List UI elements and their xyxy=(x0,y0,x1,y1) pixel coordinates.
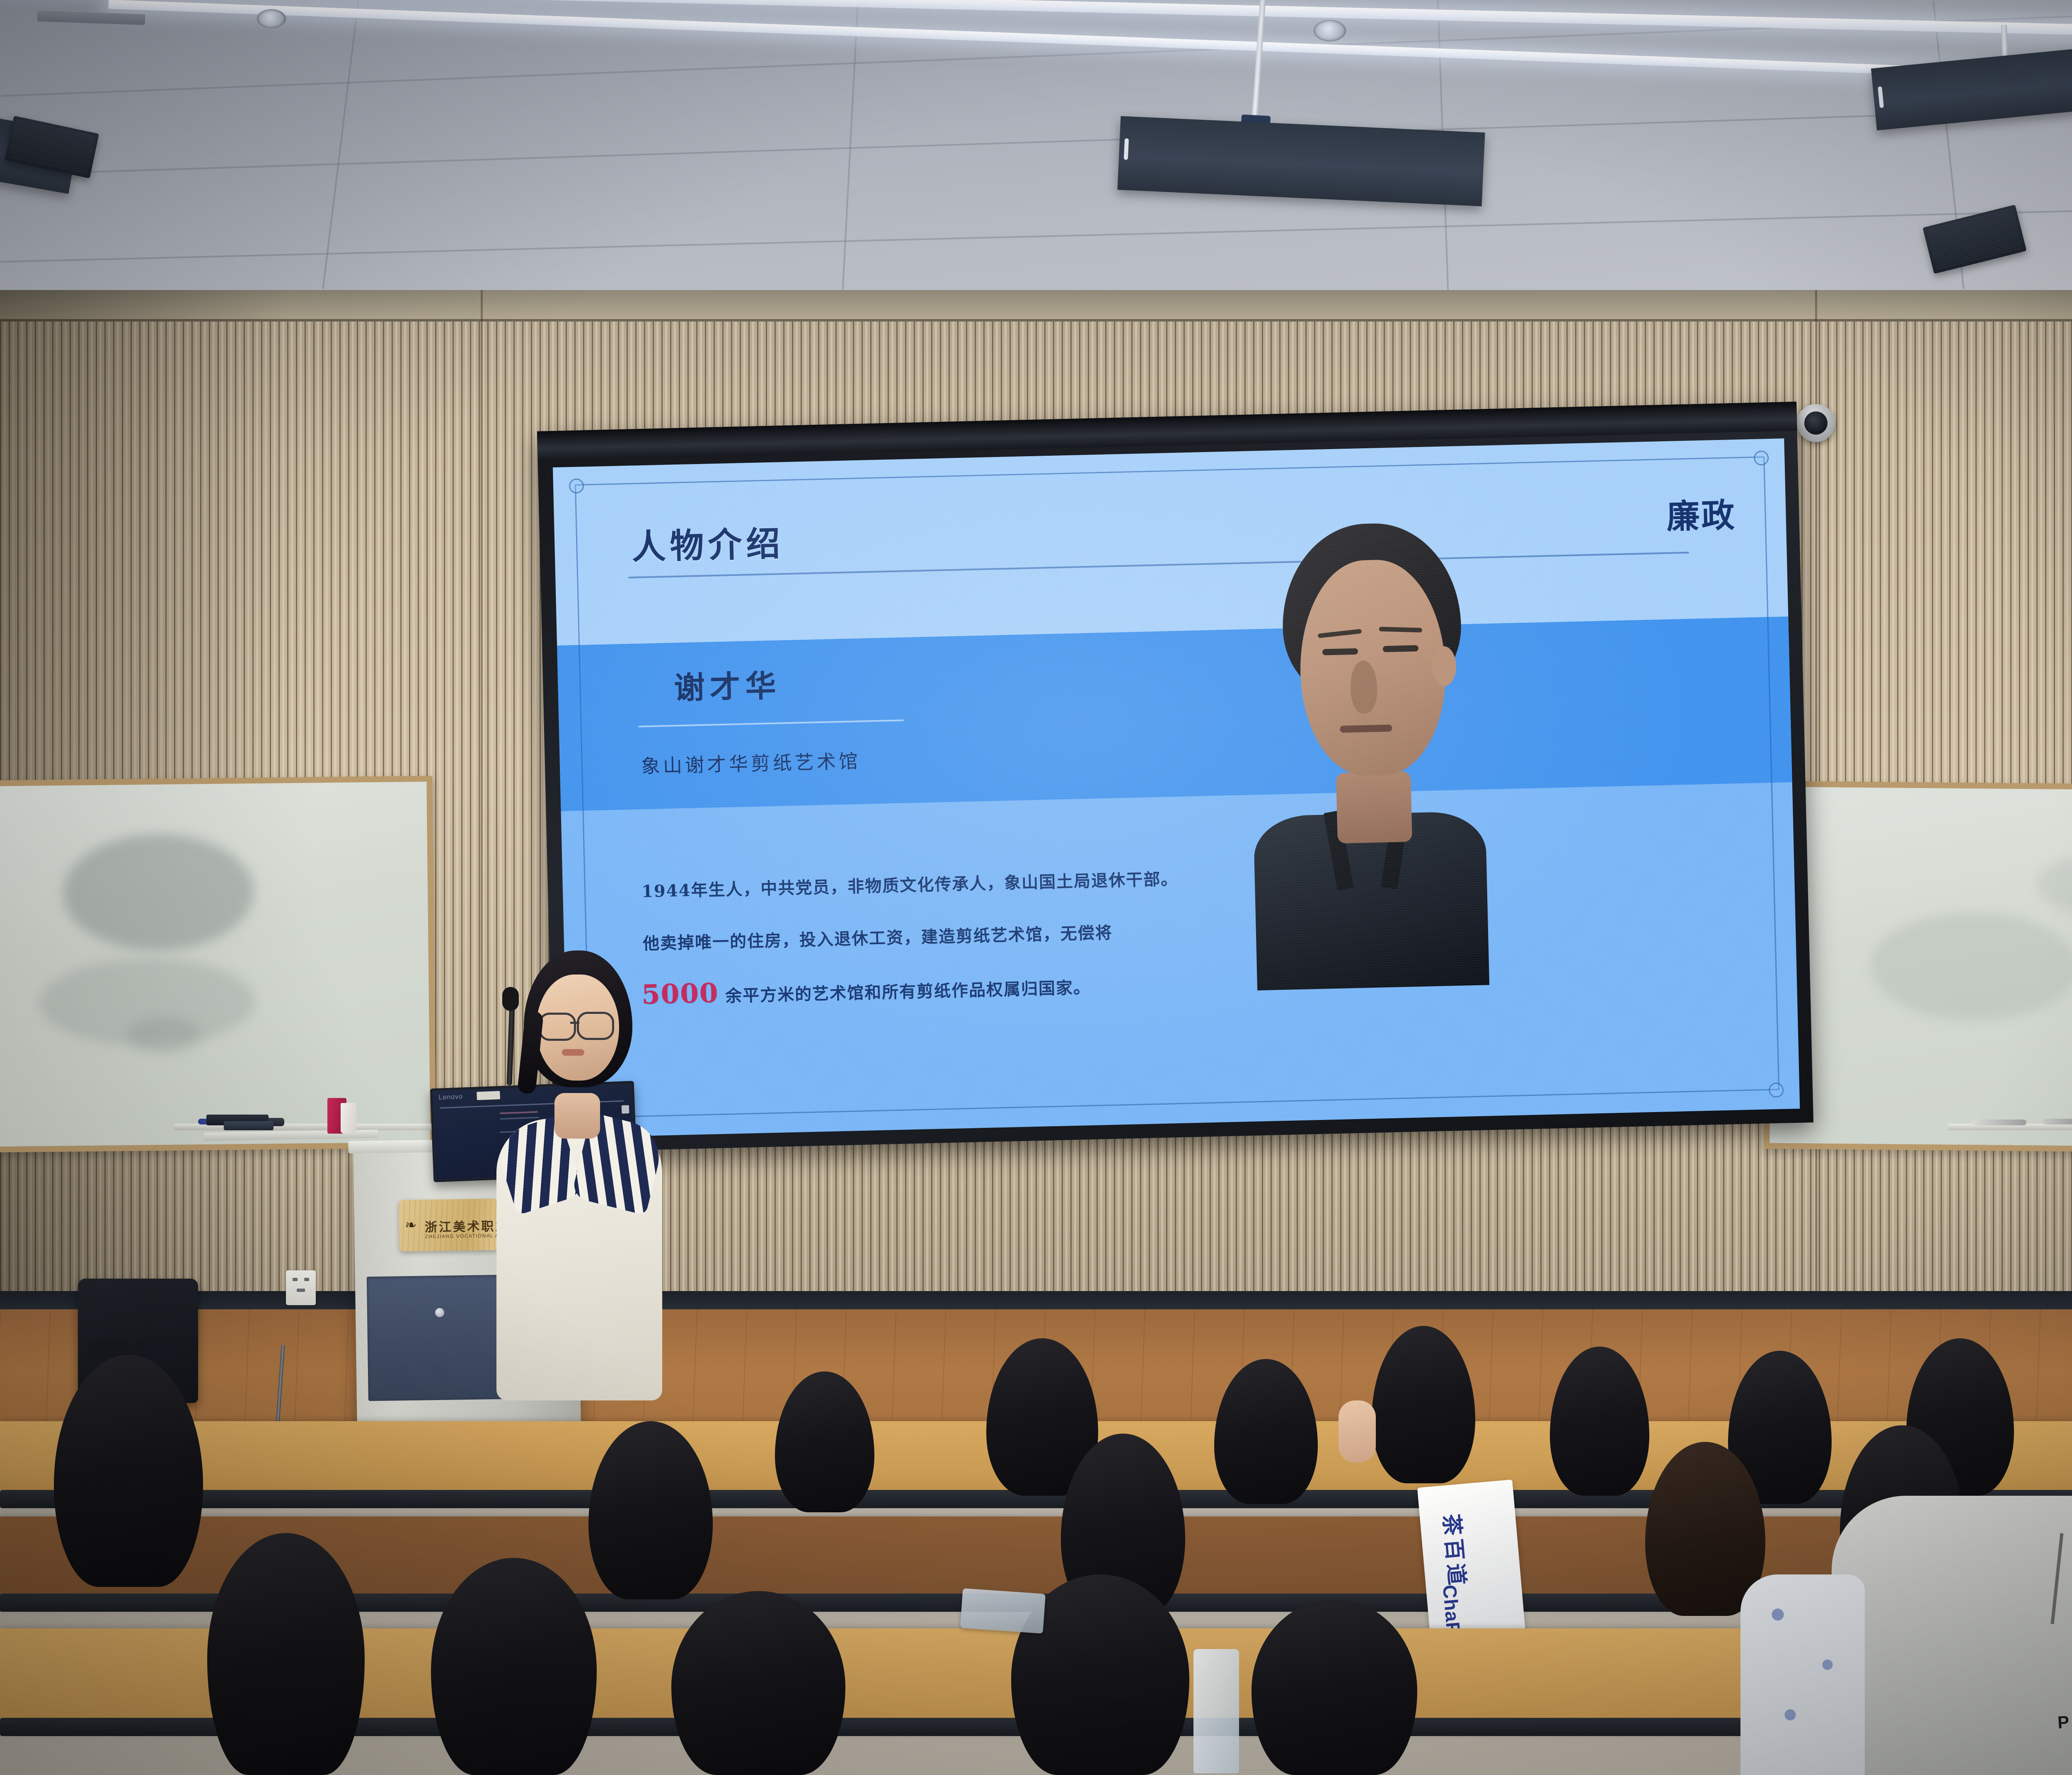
ceiling xyxy=(0,0,2072,315)
audience-raised-hand xyxy=(1339,1400,1376,1463)
presenter-mouth xyxy=(562,1049,584,1056)
whiteboard-marker[interactable] xyxy=(2043,1119,2072,1124)
power-outlet[interactable] xyxy=(286,1270,316,1305)
ceiling-downlight-icon xyxy=(257,9,286,28)
smartphone-on-desk[interactable] xyxy=(960,1588,1046,1634)
baffle-indicator-light xyxy=(1878,86,1884,108)
presentation-slide: 人物介绍 廉政 谢才华 象山谢才华剪纸艺术馆 1944年生人，中共党员，非物质文… xyxy=(553,438,1800,1138)
monitor-brand-label: Lenovo xyxy=(438,1093,463,1102)
whiteboard-marker[interactable] xyxy=(1973,1120,2026,1125)
whiteboard-left[interactable] xyxy=(0,776,436,1152)
glasses-right-lens-icon xyxy=(577,1012,614,1040)
phone-on-ledge[interactable] xyxy=(224,1121,274,1130)
tea-bag-brand-cn: 茶百道 xyxy=(1438,1512,1475,1589)
audience-hoodie-person xyxy=(1832,1496,2072,1775)
projection-screen: 人物介绍 廉政 谢才华 象山谢才华剪纸艺术馆 1944年生人，中共党员，非物质文… xyxy=(537,401,1813,1152)
glasses-left-lens-icon xyxy=(539,1013,576,1041)
academy-logo-icon: ❧ xyxy=(405,1218,417,1232)
water-bottle-on-desk[interactable] xyxy=(1193,1649,1239,1773)
baffle-support-rod xyxy=(2001,25,2008,58)
dome-camera-icon xyxy=(1797,404,1835,442)
presenter-neck xyxy=(554,1093,600,1139)
paper-cup[interactable] xyxy=(341,1103,356,1134)
slide-header-title: 人物介绍 xyxy=(631,516,785,569)
slide-person-subtitle: 象山谢才华剪纸艺术馆 xyxy=(641,746,861,779)
slide-person-name: 谢才华 xyxy=(673,661,781,708)
institution-plaque: ❧ 浙江美术职业学院 ZHEJIANG VOCATIONAL ACADEMY O… xyxy=(399,1199,499,1251)
lecture-hall-photo: 人物介绍 廉政 谢才华 象山谢才华剪纸艺术馆 1944年生人，中共党员，非物质文… xyxy=(0,0,2072,1775)
plaque-name-cn: 浙江美术职业学院 xyxy=(425,1216,499,1236)
presenter xyxy=(492,936,666,1400)
slide-portrait-photo xyxy=(1234,521,1502,987)
glasses-bridge-icon xyxy=(570,1022,579,1024)
audience-floral-sleeve xyxy=(1740,1574,1865,1775)
ceiling-downlight-icon xyxy=(1314,20,1346,41)
wall-cornice xyxy=(0,290,2072,322)
ceiling-vent xyxy=(37,10,145,25)
ceiling-strip-light xyxy=(108,0,2072,92)
integrity-seal-badge: 廉政 xyxy=(1666,488,1737,538)
